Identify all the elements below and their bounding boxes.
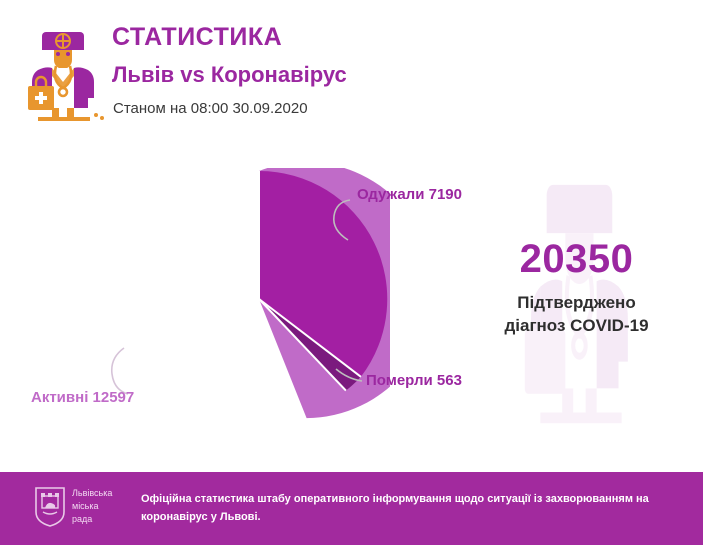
confirmed-caption-line2: діагноз COVID-19 <box>450 314 703 337</box>
confirmed-cases-caption: Підтверджено діагноз COVID-19 <box>450 291 703 337</box>
footer-logo-label: Львівська міська рада <box>72 487 132 526</box>
confirmed-cases-number: 20350 <box>450 236 703 282</box>
footer: Львівська міська рада Офіційна статистик… <box>0 472 703 545</box>
header-text-block: СТАТИСТИКА Львів vs Коронавірус Станом н… <box>112 22 532 119</box>
pie-chart <box>128 168 390 430</box>
footer-logo-line2: міська <box>72 500 132 513</box>
footer-logo-line1: Львівська <box>72 487 132 500</box>
footer-description: Офіційна статистика штабу оперативного і… <box>141 490 681 526</box>
footer-logo-line3: рада <box>72 513 132 526</box>
timestamp-line: Станом на 08:00 30.09.2020 <box>113 99 532 119</box>
page-title: СТАТИСТИКА <box>112 22 532 52</box>
pie-label-active: Активні 12597 <box>31 389 134 406</box>
header: СТАТИСТИКА Львів vs Коронавірус Станом н… <box>0 0 703 140</box>
pie-label-died: Померли 563 <box>366 372 462 389</box>
confirmed-cases-text: 20350 Підтверджено діагноз COVID-19 <box>450 236 703 337</box>
pie-label-recovered: Одужали 7190 <box>357 186 462 203</box>
confirmed-cases-panel: 20350 Підтверджено діагноз COVID-19 <box>450 140 703 472</box>
main-content: Одужали 7190 Померли 563 Активні 12597 <box>0 140 703 472</box>
page-subtitle: Львів vs Коронавірус <box>112 60 532 90</box>
doctor-icon <box>16 16 112 128</box>
confirmed-caption-line1: Підтверджено <box>450 291 703 314</box>
lviv-coat-of-arms-icon <box>34 486 66 528</box>
